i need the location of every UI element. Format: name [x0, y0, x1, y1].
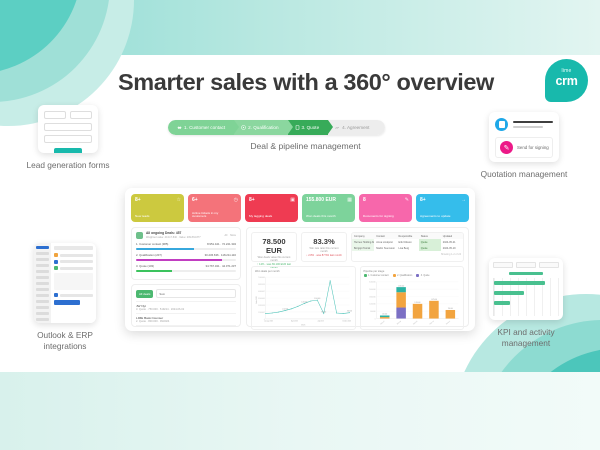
list-item-subtitle: 3. Quote · 750.000 · 519214 · 2024-06-02: [136, 308, 236, 311]
svg-text:4.666.667: 4.666.667: [258, 291, 265, 293]
svg-text:1.122.000: 1.122.000: [282, 308, 288, 310]
svg-text:3.100.000: 3.100.000: [314, 298, 320, 300]
legend-entry: 2. Qualification: [393, 274, 413, 277]
deal-pipeline[interactable]: 1. Customer contact 2. Qualification 3. …: [168, 120, 385, 135]
bottom-gradient-band: [0, 372, 600, 450]
kpi-bar-row: [494, 298, 559, 308]
legend-entry: 1. Customer contact: [364, 274, 389, 277]
kpi-filter[interactable]: [516, 262, 536, 268]
deals-list-header: All deals Sum: [136, 289, 236, 298]
kpi-tiles-row: 8+ ☆ New leads 6+ ◷ Active tickets in my…: [131, 194, 469, 222]
list-item[interactable]: LIME Basic licenser 2. Quote · 800.000 ·…: [136, 313, 236, 325]
mail-list-item[interactable]: [36, 288, 49, 291]
deals-panel-subtitle: Weighted value: 40.117.840 · Value: 209.…: [146, 236, 222, 239]
svg-text:October 2023: October 2023: [342, 319, 351, 322]
kpi-tile[interactable]: 8+ ▣ My lagging deals: [245, 194, 298, 222]
table-footer-text: Showing 1-2 of 24: [439, 251, 463, 257]
mail-list-item[interactable]: [36, 270, 49, 273]
legend-label: 1. Customer contact: [368, 275, 389, 277]
tile-value: 155.800 EUR: [306, 197, 351, 203]
stage-progress: [136, 259, 236, 262]
pipeline-step-2[interactable]: 2. Qualification: [234, 120, 287, 135]
svg-text:1.166.667: 1.166.667: [258, 312, 265, 314]
stage-progress: [136, 248, 236, 251]
legend-label: 3. Quote: [421, 275, 430, 277]
mail-body-text: [54, 273, 93, 290]
svg-text:1.200.000: 1.200.000: [369, 304, 376, 306]
sales-dashboard-window: 8+ ☆ New leads 6+ ◷ Active tickets in my…: [125, 188, 475, 331]
attachment-icon: [54, 293, 58, 297]
status-badge: Quote: [419, 245, 441, 251]
mail-list-item[interactable]: [36, 318, 49, 321]
pipeline-caption: Deal & pipeline management: [168, 141, 443, 151]
charts-row: Won deals per month 7.000.0005.833.3334.…: [251, 266, 464, 330]
svg-text:2023-10: 2023-10: [429, 321, 435, 326]
mail-list-item[interactable]: [36, 258, 49, 261]
tile-label: My lagging deals: [249, 215, 288, 219]
outlook-integration-caption: Outlook & ERP integrations: [17, 330, 113, 351]
legend-entry: 3. Quote: [416, 274, 429, 277]
kpi-value: 78.500 EUR: [256, 237, 292, 255]
svg-text:0: 0: [264, 319, 265, 321]
svg-text:1.475.000: 1.475.000: [430, 299, 436, 301]
line-chart: 7.000.0005.833.3334.666.6673.500.0002.33…: [255, 274, 352, 326]
company-icon: [54, 260, 58, 264]
kpi-filter-row[interactable]: [493, 262, 559, 268]
deals-summary-panel: All ongoing Deals: 457 Weighted value: 4…: [131, 227, 241, 280]
svg-text:7.000.000: 7.000.000: [258, 277, 265, 279]
send-for-signing-label: Send for signing: [517, 145, 549, 150]
title-line: [513, 121, 553, 124]
star-icon: ☆: [177, 197, 181, 203]
mail-list-item[interactable]: [36, 246, 49, 249]
kpi-boxes: 78.500 EUR Won deals value this current …: [251, 232, 347, 262]
crm-chip-company[interactable]: [54, 260, 93, 264]
line-chart-panel: Won deals per month 7.000.0005.833.3334.…: [251, 266, 356, 330]
all-deals-button[interactable]: All deals: [136, 290, 153, 298]
kpi-value: 83.3%: [306, 237, 342, 246]
dashboard-body: All ongoing Deals: 457 Weighted value: 4…: [131, 227, 469, 327]
kpi-box: 78.500 EUR Won deals value this current …: [251, 232, 297, 262]
table-cell: Borgsjö Teknik: [352, 245, 374, 251]
svg-text:April 2023: April 2023: [291, 319, 298, 322]
svg-text:January 2023: January 2023: [264, 319, 273, 322]
deals-table: Company Contact Responsible Status Updat…: [351, 232, 464, 262]
legend-label: 2. Qualification: [397, 275, 412, 277]
mail-list-item[interactable]: [36, 276, 49, 279]
arrow-right-icon: →: [461, 197, 466, 203]
kpi-gantt-plot: [493, 278, 559, 316]
svg-text:950.000: 950.000: [347, 311, 351, 313]
svg-text:5.833.333: 5.833.333: [258, 284, 265, 286]
kpi-activity-card: KPI and activity management: [489, 258, 576, 348]
tile-value: 8: [363, 197, 408, 203]
mail-list-item[interactable]: [36, 306, 49, 309]
outlook-reading-pane: [51, 243, 96, 323]
pipeline-step-2-label: 2. Qualification: [248, 125, 278, 130]
kpi-filter[interactable]: [493, 262, 513, 268]
svg-text:2023-07: 2023-07: [379, 321, 385, 326]
kpi-tile[interactable]: 8+ → Agreements to update: [416, 194, 469, 222]
tile-label: New leads: [135, 215, 174, 219]
lead-generation-caption: Lead generation forms: [20, 160, 116, 171]
deal-icon: [54, 266, 58, 270]
chip-bar: [60, 260, 93, 263]
kpi-bar-row: [494, 278, 559, 288]
tile-value: 6+: [192, 197, 237, 203]
deals-filter-button[interactable]: All: [225, 234, 228, 237]
stage-label: 1. Customer contact (385): [136, 242, 168, 246]
kpi-tile[interactable]: 8+ ☆ New leads: [131, 194, 184, 222]
outlook-integration-card: Outlook & ERP integrations: [34, 243, 113, 351]
mail-list-item[interactable]: [36, 264, 49, 267]
tile-value: 8+: [135, 197, 180, 203]
signature-icon: ✎: [500, 141, 513, 154]
stage-amount: 30.236.636 · 118.211.116: [205, 253, 236, 257]
svg-text:Value EUR: Value EUR: [256, 295, 258, 304]
quotation-title-lines: [513, 121, 553, 129]
svg-text:2.400.000: 2.400.000: [369, 289, 376, 291]
lead-form-mockup: [38, 105, 98, 153]
signature-icon: [335, 125, 340, 130]
target-icon: [241, 125, 246, 130]
svg-text:2023-11: 2023-11: [445, 321, 450, 326]
svg-text:Month: Month: [301, 324, 305, 327]
grid-icon: ▦: [347, 197, 352, 203]
dashboard-right-column: 78.500 EUR Won deals value this current …: [246, 227, 469, 327]
svg-text:2.333.333: 2.333.333: [258, 305, 265, 307]
crm-chip-person[interactable]: [54, 253, 93, 257]
kpi-subtitle: Win rate ratio this current month: [306, 247, 342, 253]
camera-icon: ▣: [290, 197, 295, 203]
clock-icon: ◷: [234, 197, 238, 203]
table-footer: Showing 1-2 of 24: [352, 251, 463, 257]
stage-progress: [136, 270, 236, 273]
tile-label: Agreements to update: [420, 215, 459, 219]
mail-header: [54, 246, 93, 250]
pipeline-step-3-label: 3. Quote: [302, 125, 320, 130]
svg-text:July 2023: July 2023: [317, 321, 323, 323]
svg-text:3.000.000: 3.000.000: [369, 282, 376, 284]
pipeline-step-4[interactable]: 4. Agreement: [328, 120, 385, 135]
kpi-bar: [494, 281, 545, 285]
outlook-mockup: [34, 243, 96, 323]
kpi-tile[interactable]: 6+ ◷ Active tickets in my customers: [188, 194, 241, 222]
stage-row: 3. Quote (103) 34.767.341 · 44.071.237: [136, 264, 236, 272]
page-title: Smarter sales with a 360° overview: [118, 69, 494, 96]
mail-list-item[interactable]: [36, 300, 49, 303]
list-item[interactable]: Fortinfo 2020 3. Quote · 15.000 · 09/202…: [136, 325, 236, 327]
lead-form-field[interactable]: [44, 123, 92, 131]
mail-list-item[interactable]: [36, 312, 49, 315]
tile-value: 8+: [249, 197, 294, 203]
quotation-mockup: ✎ Send for signing: [489, 112, 559, 162]
slide-canvas: Smarter sales with a 360° overview lime …: [0, 0, 600, 450]
bottom-band-clip: [0, 372, 600, 450]
chip-bar: [60, 254, 93, 257]
list-item-subtitle: 2. Quote · 800.000 · 09/2024: [136, 320, 236, 323]
quotation-caption: Quotation management: [476, 169, 572, 180]
stage-label: 3. Quote (103): [136, 264, 154, 268]
document-icon: [495, 118, 508, 131]
list-item[interactable]: JW Nyt 3. Quote · 750.000 · 519214 · 202…: [136, 301, 236, 313]
mail-list-item[interactable]: [36, 294, 49, 297]
handshake-icon: [177, 125, 182, 130]
tile-label: Won deals this month: [306, 215, 345, 219]
mail-list-item[interactable]: [36, 252, 49, 255]
svg-text:2023-08: 2023-08: [396, 321, 402, 326]
stage-row: 2. Qualification (207) 30.236.636 · 118.…: [136, 253, 236, 261]
subtitle-line: [513, 126, 543, 128]
outlook-action-button[interactable]: [54, 300, 80, 305]
mail-list-item[interactable]: [36, 282, 49, 285]
bar-chart-panel: Pipeline per stage 1. Customer contact 2…: [360, 266, 465, 330]
line-chart-title: Won deals per month: [255, 270, 352, 273]
lead-form-submit-button[interactable]: [54, 148, 82, 153]
chip-bar: [60, 294, 93, 297]
svg-text:1.200.000: 1.200.000: [414, 302, 420, 304]
logo-crm-text: crm: [545, 74, 588, 88]
stage-row: 1. Customer contact (385) 8.951.441 · 72…: [136, 242, 236, 250]
kpi-bar: [494, 301, 510, 305]
tile-label: Active tickets in my customers: [192, 212, 231, 219]
kpi-activity-caption: KPI and activity management: [476, 327, 576, 348]
kpi-filter[interactable]: [539, 262, 559, 268]
pipeline-step-4-label: 4. Agreement: [342, 125, 369, 130]
kpi-delta: ↓ 2.8% · was 87.5% last month: [306, 254, 342, 257]
svg-text:2.530.000: 2.530.000: [398, 285, 404, 287]
deals-panel-header: All ongoing Deals: 457 Weighted value: 4…: [136, 232, 236, 239]
stage-amount: 34.767.341 · 44.071.237: [206, 264, 236, 268]
bar-chart-legend: 1. Customer contact 2. Qualification 3. …: [364, 274, 461, 277]
deals-list-panel: All deals Sum JW Nyt 3. Quote · 750.000 …: [131, 284, 241, 327]
svg-text:3.500.000: 3.500.000: [258, 298, 265, 300]
svg-text:1.800.000: 1.800.000: [369, 296, 376, 298]
svg-text:2023-09: 2023-09: [412, 321, 418, 326]
pipeline-step-3[interactable]: 3. Quote: [288, 120, 329, 135]
table-cell: Martin Svensson: [374, 245, 396, 251]
dashboard-left-column: All ongoing Deals: 457 Weighted value: 4…: [131, 227, 241, 327]
crm-chip-extra[interactable]: [54, 293, 93, 297]
crm-chip-deal[interactable]: [54, 266, 93, 270]
kpi-tile[interactable]: 155.800 EUR ▦ Won deals this month: [302, 194, 355, 222]
lead-form-field[interactable]: [44, 135, 92, 143]
lead-form-field[interactable]: [44, 111, 66, 119]
pen-icon: ✎: [405, 197, 409, 203]
pipeline-step-1-label: 1. Customer contact: [184, 125, 225, 130]
tile-value: 8+: [420, 197, 465, 203]
stage-amount: 8.951.441 · 72.241.334: [207, 242, 236, 246]
person-icon: [54, 253, 58, 257]
svg-text:250.000: 250.000: [382, 314, 387, 316]
send-for-signing-row[interactable]: ✎ Send for signing: [495, 137, 553, 158]
svg-text:700.000: 700.000: [447, 308, 452, 310]
svg-text:600.000: 600.000: [370, 311, 375, 313]
lead-form-row: [44, 111, 92, 119]
outlook-mail-list[interactable]: [34, 243, 51, 323]
bar-chart: 3.000.0002.400.0001.800.0001.200.000600.…: [364, 278, 461, 326]
metrics-row: 78.500 EUR Won deals value this current …: [251, 232, 464, 262]
kpi-legend: [509, 272, 543, 275]
kpi-bar: [494, 291, 524, 295]
kpi-subtitle: Won deals value this current month: [256, 256, 292, 262]
tile-label: Documents for signing: [363, 215, 402, 219]
kpi-tile[interactable]: 8 ✎ Documents for signing: [359, 194, 412, 222]
sum-select[interactable]: Sum: [156, 289, 236, 298]
pipeline-step-1[interactable]: 1. Customer contact: [168, 120, 234, 135]
kpi-bar-row: [494, 288, 559, 298]
lime-crm-logo: lime crm: [545, 59, 588, 102]
svg-text:0: 0: [374, 318, 375, 320]
table-cell: Lisa Berg: [397, 245, 419, 251]
bar-chart-title: Pipeline per stage: [364, 270, 461, 273]
lead-generation-card: Lead generation forms: [38, 105, 116, 171]
stage-label: 2. Qualification (207): [136, 253, 162, 257]
quotation-document-row: [495, 118, 553, 131]
lead-form-field[interactable]: [70, 111, 92, 119]
kpi-box: 83.3% Win rate ratio this current month …: [301, 232, 347, 262]
deals-more-button[interactable]: More: [230, 234, 236, 237]
deals-icon: [136, 232, 143, 239]
kpi-mockup: [489, 258, 563, 320]
chip-bar: [60, 267, 93, 270]
document-icon: [295, 125, 300, 130]
quotation-card: ✎ Send for signing Quotation management: [489, 112, 572, 180]
svg-text:2.242.000: 2.242.000: [301, 301, 307, 303]
